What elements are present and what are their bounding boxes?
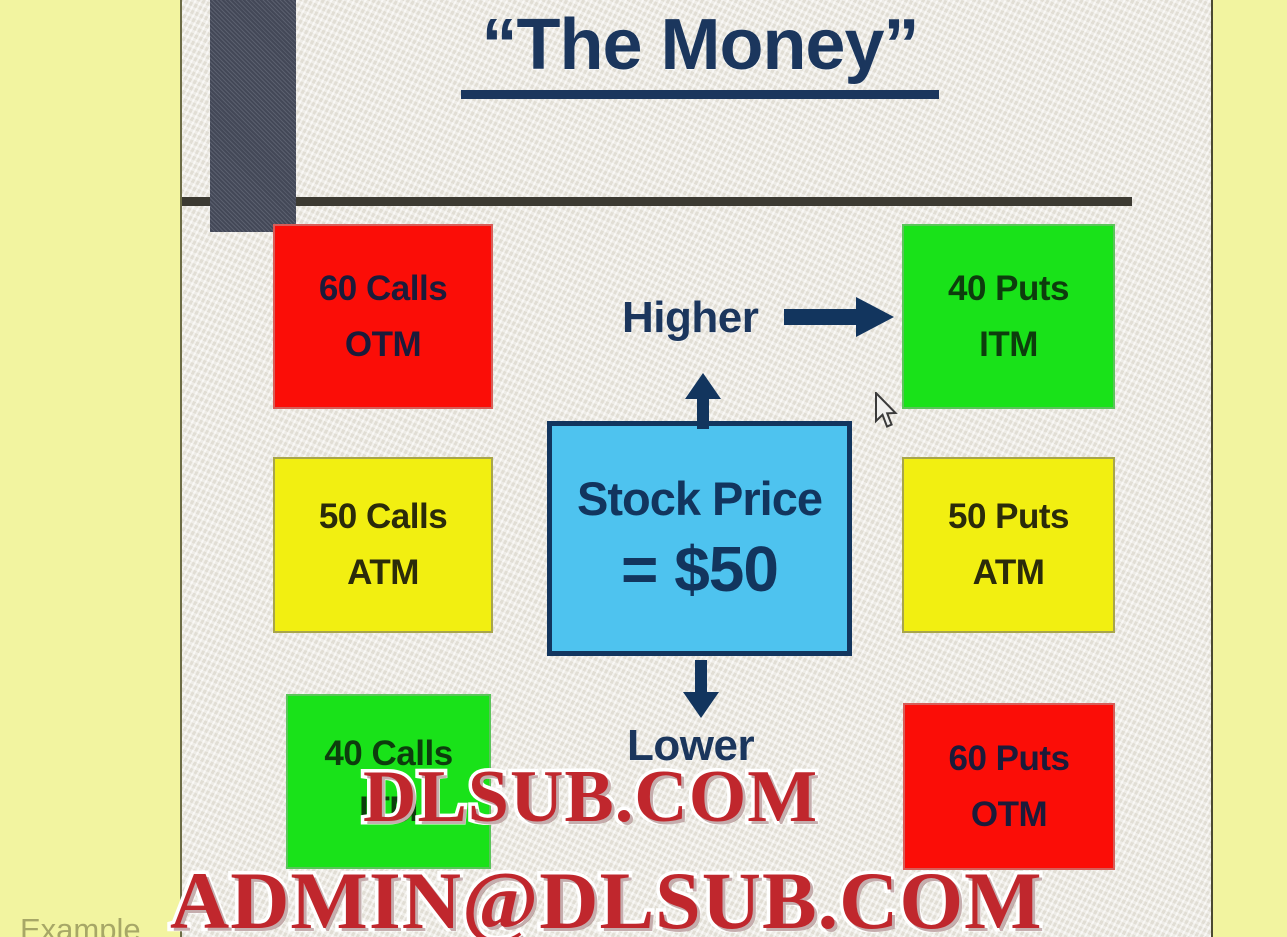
stock-price-value: = $50 bbox=[621, 531, 778, 607]
watermark-dlsub-com: DLSUB.COM bbox=[363, 757, 818, 837]
arrow-right-icon bbox=[784, 294, 896, 345]
option-box-calls-otm: 60 Calls OTM bbox=[273, 224, 493, 409]
option-box-line-1: 60 Puts bbox=[949, 731, 1070, 787]
watermark-admin-email: ADMIN@DLSUB.COM bbox=[170, 856, 1043, 937]
slide-title: “The Money” bbox=[430, 4, 970, 99]
option-box-line-2: ATM bbox=[347, 545, 419, 601]
option-box-line-2: ATM bbox=[973, 545, 1045, 601]
option-box-calls-atm: 50 Calls ATM bbox=[273, 457, 493, 633]
option-box-line-1: 60 Calls bbox=[319, 261, 447, 317]
option-box-puts-itm: 40 Puts ITM bbox=[902, 224, 1115, 409]
page-margin-left bbox=[0, 0, 179, 937]
option-box-line-1: 40 Puts bbox=[948, 261, 1069, 317]
stock-price-label: Stock Price bbox=[577, 471, 822, 527]
page-margin-right bbox=[1214, 0, 1287, 937]
mouse-pointer-icon bbox=[874, 392, 900, 435]
option-box-line-1: 50 Calls bbox=[319, 489, 447, 545]
arrow-up-icon bbox=[684, 373, 722, 434]
header-divider-rule bbox=[182, 197, 1132, 206]
option-box-line-2: ITM bbox=[979, 317, 1038, 373]
option-box-line-1: 50 Puts bbox=[948, 489, 1069, 545]
caption-example: Example bbox=[20, 913, 141, 937]
stock-price-box: Stock Price = $50 bbox=[547, 421, 852, 656]
option-box-line-2: OTM bbox=[345, 317, 421, 373]
option-box-line-2: OTM bbox=[971, 787, 1047, 843]
slide-title-text: “The Money” bbox=[430, 4, 970, 86]
direction-label-higher: Higher bbox=[622, 292, 758, 344]
screenshot-root: “The Money” 60 Calls OTM 40 Puts ITM 50 … bbox=[0, 0, 1287, 937]
arrow-down-icon bbox=[682, 660, 720, 723]
slide-title-underline bbox=[461, 90, 939, 99]
option-box-puts-atm: 50 Puts ATM bbox=[902, 457, 1115, 633]
decorative-side-block bbox=[210, 0, 296, 232]
option-box-puts-otm: 60 Puts OTM bbox=[903, 703, 1115, 870]
